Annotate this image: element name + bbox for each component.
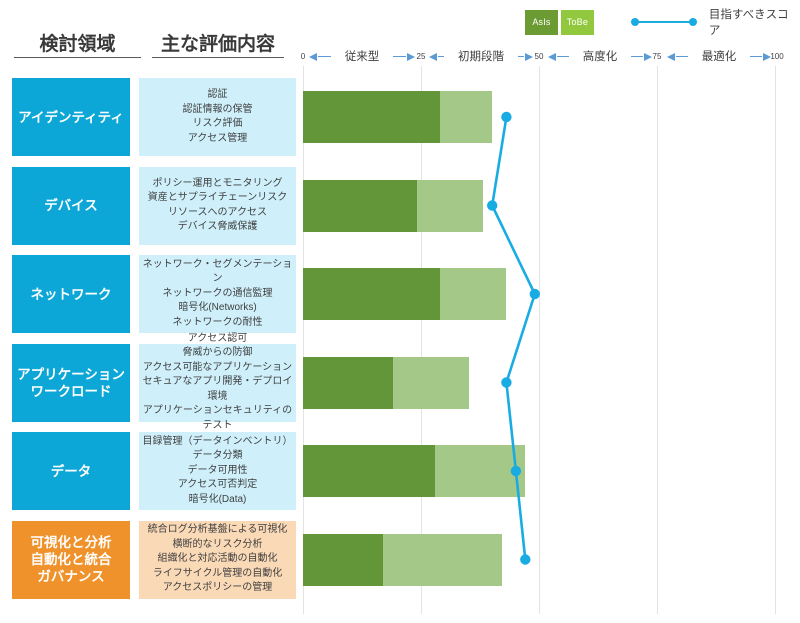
- axis-tick-25: 25: [417, 52, 426, 61]
- row-category-label: アプリケーション ワークロード: [17, 366, 125, 400]
- axis-zone-3: 最適化: [667, 48, 771, 64]
- row-category-label: 可視化と分析 自動化と統合 ガバナンス: [31, 534, 112, 585]
- chart-row: アプリケーション ワークロードアクセス認可 脅威からの防御 アクセス可能なアプリ…: [0, 344, 800, 422]
- legend-label-tobe: ToBe: [567, 17, 588, 27]
- bar-tobe[interactable]: [440, 91, 492, 143]
- bar-asis[interactable]: [303, 268, 440, 320]
- chart-row: データ目録管理（データインベントリ） データ分類 データ可用性 アクセス可否判定…: [0, 432, 800, 510]
- bar-asis[interactable]: [303, 180, 417, 232]
- bar-tobe[interactable]: [383, 534, 501, 586]
- row-bar-group: [303, 78, 800, 156]
- row-category-label: ネットワーク: [31, 286, 112, 303]
- row-category-label: デバイス: [44, 197, 98, 214]
- axis-tick-100: 100: [770, 52, 783, 61]
- bar-tobe[interactable]: [393, 357, 469, 409]
- chart-row: ネットワークネットワーク・セグメンテーション ネットワークの通信監理 暗号化(N…: [0, 255, 800, 333]
- bar-asis[interactable]: [303, 445, 435, 497]
- axis-zone-label-3: 最適化: [697, 48, 742, 64]
- legend-entry-score: 目指すべきスコア: [631, 6, 800, 38]
- legend-label-score: 目指すべきスコア: [709, 6, 800, 38]
- axis-zone-label-1: 初期段階: [453, 48, 509, 64]
- axis-zone-label-0: 従来型: [340, 48, 385, 64]
- axis-zone-1: 初期段階: [429, 48, 533, 64]
- bar-tobe[interactable]: [417, 180, 483, 232]
- row-bar-group: [303, 432, 800, 510]
- chart-row: デバイスポリシー運用とモニタリング 資産とサプライチェーンリスク リソースへのア…: [0, 167, 800, 245]
- row-bar-group: [303, 344, 800, 422]
- row-category-box[interactable]: アイデンティティ: [12, 78, 130, 156]
- bar-asis[interactable]: [303, 357, 393, 409]
- axis-zone-2: 高度化: [548, 48, 652, 64]
- row-description-box: ポリシー運用とモニタリング 資産とサプライチェーンリスク リソースへのアクセス …: [139, 167, 296, 245]
- row-category-box[interactable]: 可視化と分析 自動化と統合 ガバナンス: [12, 521, 130, 599]
- axis-tick-50: 50: [535, 52, 544, 61]
- row-description-items: ポリシー運用とモニタリング 資産とサプライチェーンリスク リソースへのアクセス …: [148, 177, 288, 235]
- row-description-items: アクセス認可 脅威からの防御 アクセス可能なアプリケーション セキュアなアプリ開…: [139, 332, 296, 434]
- row-description-box: ネットワーク・セグメンテーション ネットワークの通信監理 暗号化(Network…: [139, 255, 296, 333]
- row-description-items: ネットワーク・セグメンテーション ネットワークの通信監理 暗号化(Network…: [139, 258, 296, 331]
- bar-asis[interactable]: [303, 91, 440, 143]
- axis-zone-label-2: 高度化: [578, 48, 623, 64]
- row-description-items: 認証 認証情報の保管 リスク評価 アクセス管理: [183, 88, 253, 146]
- row-category-box[interactable]: ネットワーク: [12, 255, 130, 333]
- legend-label-asis: AsIs: [532, 17, 550, 27]
- row-description-items: 目録管理（データインベントリ） データ分類 データ可用性 アクセス可否判定 暗号…: [143, 435, 293, 508]
- legend-swatch-asis: AsIs: [525, 10, 558, 35]
- bar-tobe[interactable]: [440, 268, 506, 320]
- row-description-box: 統合ログ分析基盤による可視化 横断的なリスク分析 組織化と対応活動の自動化 ライ…: [139, 521, 296, 599]
- row-category-box[interactable]: データ: [12, 432, 130, 510]
- maturity-axis: 0 25 50 75 100 従来型 初期段階 高度化 最適化: [295, 48, 790, 66]
- column-header-domain: 検討領域: [14, 34, 141, 58]
- row-description-items: 統合ログ分析基盤による可視化 横断的なリスク分析 組織化と対応活動の自動化 ライ…: [148, 523, 288, 596]
- chart-row: 可視化と分析 自動化と統合 ガバナンス統合ログ分析基盤による可視化 横断的なリス…: [0, 521, 800, 599]
- row-category-box[interactable]: アプリケーション ワークロード: [12, 344, 130, 422]
- chart-legend: AsIs ToBe 目指すべきスコア: [525, 9, 800, 35]
- row-bar-group: [303, 167, 800, 245]
- legend-line-marker-icon: [631, 16, 697, 28]
- axis-tick-0: 0: [301, 52, 305, 61]
- row-category-label: データ: [51, 463, 92, 480]
- column-header-content: 主な評価内容: [152, 34, 284, 58]
- bar-tobe[interactable]: [435, 445, 525, 497]
- bar-asis[interactable]: [303, 534, 383, 586]
- chart-row: アイデンティティ認証 認証情報の保管 リスク評価 アクセス管理: [0, 78, 800, 156]
- zero-trust-maturity-chart: AsIs ToBe 目指すべきスコア 検討領域 主な評価内容 0 25 50 7…: [0, 0, 800, 623]
- row-description-box: 目録管理（データインベントリ） データ分類 データ可用性 アクセス可否判定 暗号…: [139, 432, 296, 510]
- row-bar-group: [303, 255, 800, 333]
- axis-tick-75: 75: [653, 52, 662, 61]
- row-category-box[interactable]: デバイス: [12, 167, 130, 245]
- row-bar-group: [303, 521, 800, 599]
- legend-swatch-tobe: ToBe: [561, 10, 594, 35]
- row-description-box: アクセス認可 脅威からの防御 アクセス可能なアプリケーション セキュアなアプリ開…: [139, 344, 296, 422]
- row-description-box: 認証 認証情報の保管 リスク評価 アクセス管理: [139, 78, 296, 156]
- axis-zone-0: 従来型: [309, 48, 415, 64]
- row-category-label: アイデンティティ: [18, 109, 124, 126]
